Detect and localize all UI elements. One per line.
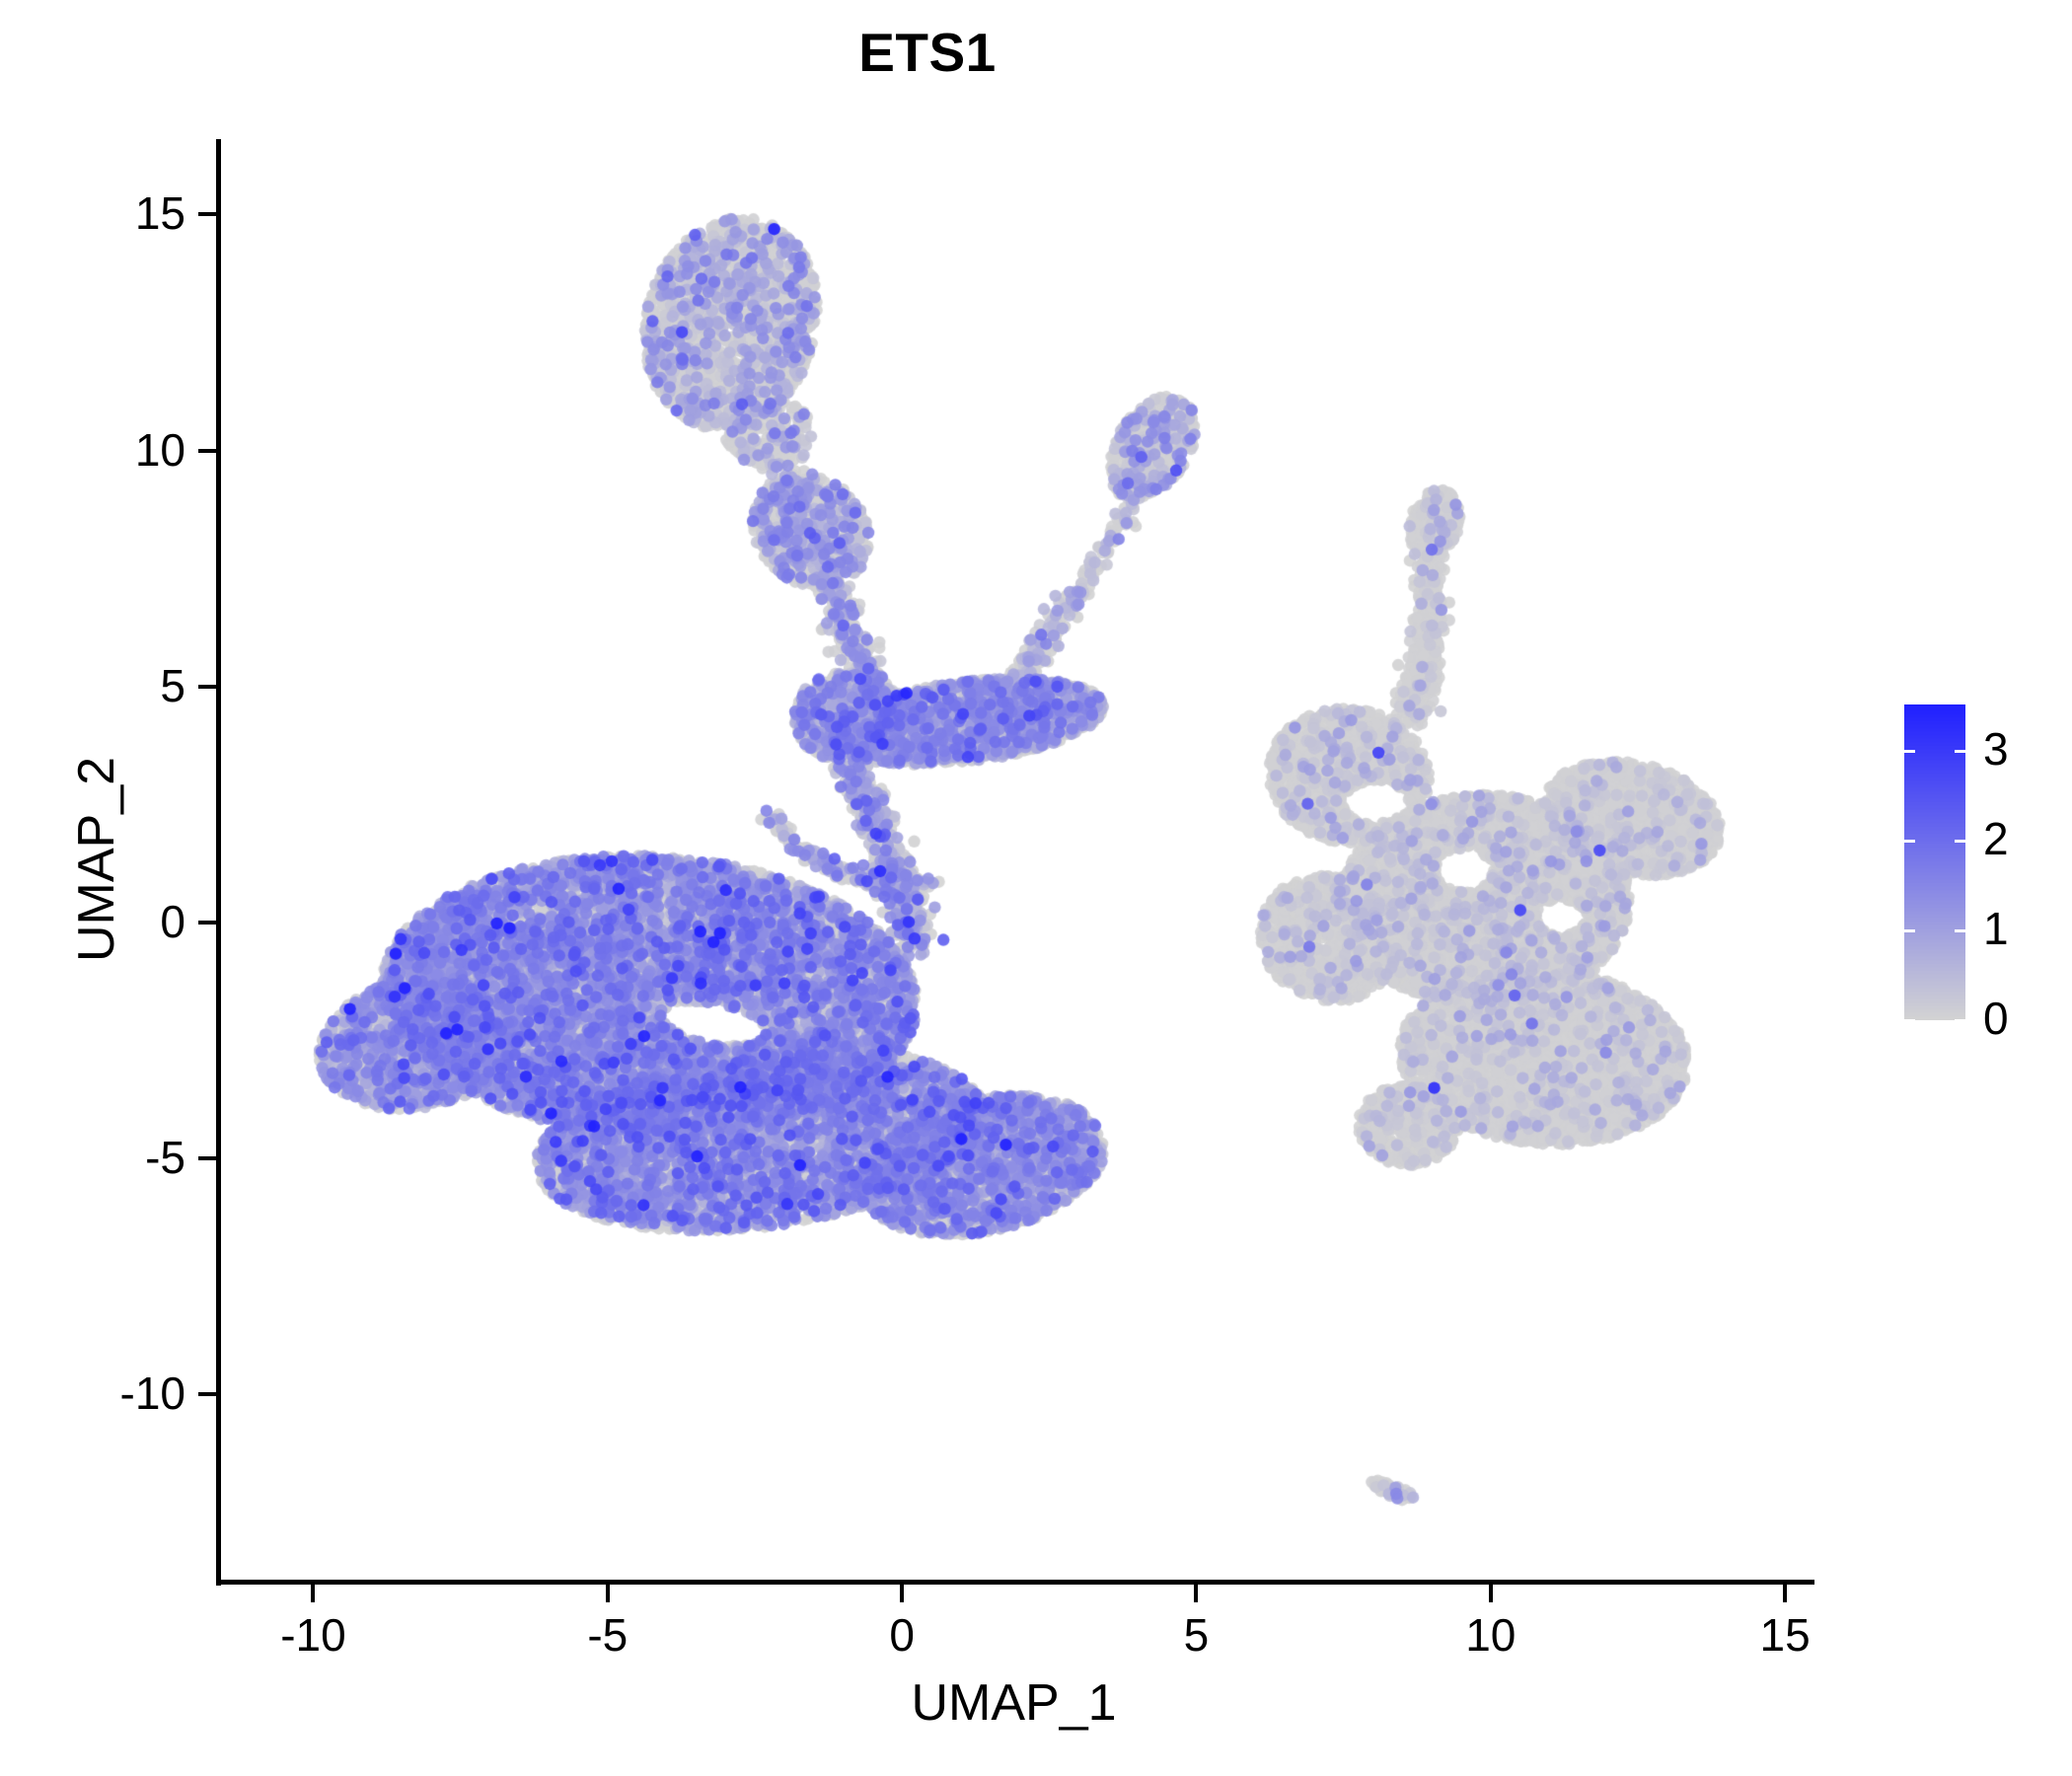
- colorbar-tick-mark: [1955, 929, 1965, 932]
- x-tick-label: 15: [1696, 1612, 1874, 1658]
- y-tick-mark: [198, 449, 216, 453]
- colorbar-tick-mark: [1904, 750, 1915, 753]
- colorbar-tick-mark: [1955, 1019, 1965, 1022]
- y-tick-mark: [198, 1156, 216, 1160]
- x-tick-label: 5: [1107, 1612, 1285, 1658]
- figure-root: ETS1 151050-5-10 -10-5051015 UMAP_1 UMAP…: [0, 0, 2072, 1776]
- x-tick-mark: [900, 1585, 904, 1602]
- x-tick-mark: [606, 1585, 610, 1602]
- x-tick-label: 0: [813, 1612, 991, 1658]
- colorbar-tick-label: 1: [1983, 906, 2009, 951]
- colorbar-tick-mark: [1904, 840, 1915, 843]
- y-tick-mark: [198, 685, 216, 689]
- page-title: ETS1: [0, 26, 1855, 80]
- x-tick-label: 10: [1402, 1612, 1580, 1658]
- x-tick-mark: [311, 1585, 315, 1602]
- colorbar-tick-label: 0: [1983, 996, 2009, 1041]
- x-tick-mark: [1194, 1585, 1198, 1602]
- y-tick-label: 10: [135, 427, 185, 473]
- colorbar-tick-mark: [1904, 1019, 1915, 1022]
- y-axis-line: [216, 139, 221, 1586]
- y-tick-mark: [198, 1392, 216, 1396]
- y-axis-title: UMAP_2: [71, 475, 122, 1244]
- x-axis-line: [216, 1580, 1814, 1585]
- scatter-plot-area: [219, 139, 1809, 1583]
- x-axis-title: UMAP_1: [219, 1677, 1809, 1729]
- y-tick-label: 0: [160, 899, 185, 944]
- y-tick-label: -10: [120, 1370, 185, 1416]
- x-tick-label: -5: [519, 1612, 697, 1658]
- color-legend: 0123: [1904, 704, 2052, 1020]
- x-tick-label: -10: [224, 1612, 402, 1658]
- y-tick-label: 5: [160, 663, 185, 708]
- x-tick-mark: [1489, 1585, 1493, 1602]
- colorbar-tick-mark: [1904, 929, 1915, 932]
- colorbar-tick-mark: [1955, 750, 1965, 753]
- colorbar-tick-label: 2: [1983, 816, 2009, 861]
- y-tick-label: -5: [145, 1135, 185, 1180]
- x-tick-mark: [1783, 1585, 1787, 1602]
- y-tick-label: 15: [135, 190, 185, 236]
- y-tick-mark: [198, 212, 216, 216]
- colorbar-tick-label: 3: [1983, 726, 2009, 772]
- umap-point-cloud: [219, 139, 1809, 1583]
- colorbar-tick-mark: [1955, 840, 1965, 843]
- y-tick-mark: [198, 921, 216, 925]
